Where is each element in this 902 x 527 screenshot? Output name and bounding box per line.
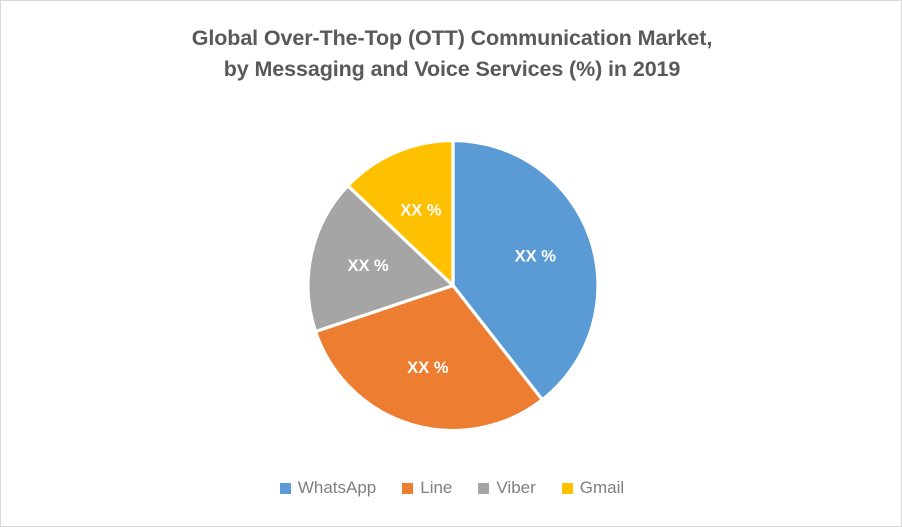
pie-slice-label-gmail: XX % [400, 201, 442, 219]
legend-item-whatsapp[interactable]: WhatsApp [280, 479, 376, 497]
chart-title-line-1: Global Over-The-Top (OTT) Communication … [1, 23, 902, 54]
pie-slice-label-line: XX % [407, 359, 449, 377]
chart-title-line-2: by Messaging and Voice Services (%) in 2… [1, 54, 902, 85]
legend-item-viber[interactable]: Viber [478, 479, 535, 497]
chart-legend: WhatsAppLineViberGmail [1, 479, 902, 497]
pie-slices [308, 141, 598, 431]
pie-chart: XX %XX %XX %XX % [1, 97, 902, 457]
plot-area: XX %XX %XX %XX % [1, 97, 902, 457]
pie-slice-label-viber: XX % [347, 257, 389, 275]
chart-title: Global Over-The-Top (OTT) Communication … [1, 23, 902, 85]
legend-swatch-icon-line [402, 483, 413, 494]
legend-swatch-icon-viber [478, 483, 489, 494]
legend-swatch-icon-whatsapp [280, 483, 291, 494]
legend-item-line[interactable]: Line [402, 479, 452, 497]
legend-item-gmail[interactable]: Gmail [562, 479, 624, 497]
legend-label: Line [420, 479, 452, 497]
legend-label: Viber [496, 479, 535, 497]
chart-container: Global Over-The-Top (OTT) Communication … [0, 0, 902, 527]
pie-slice-label-whatsapp: XX % [515, 248, 557, 266]
legend-swatch-icon-gmail [562, 483, 573, 494]
legend-label: WhatsApp [298, 479, 376, 497]
legend-label: Gmail [580, 479, 624, 497]
